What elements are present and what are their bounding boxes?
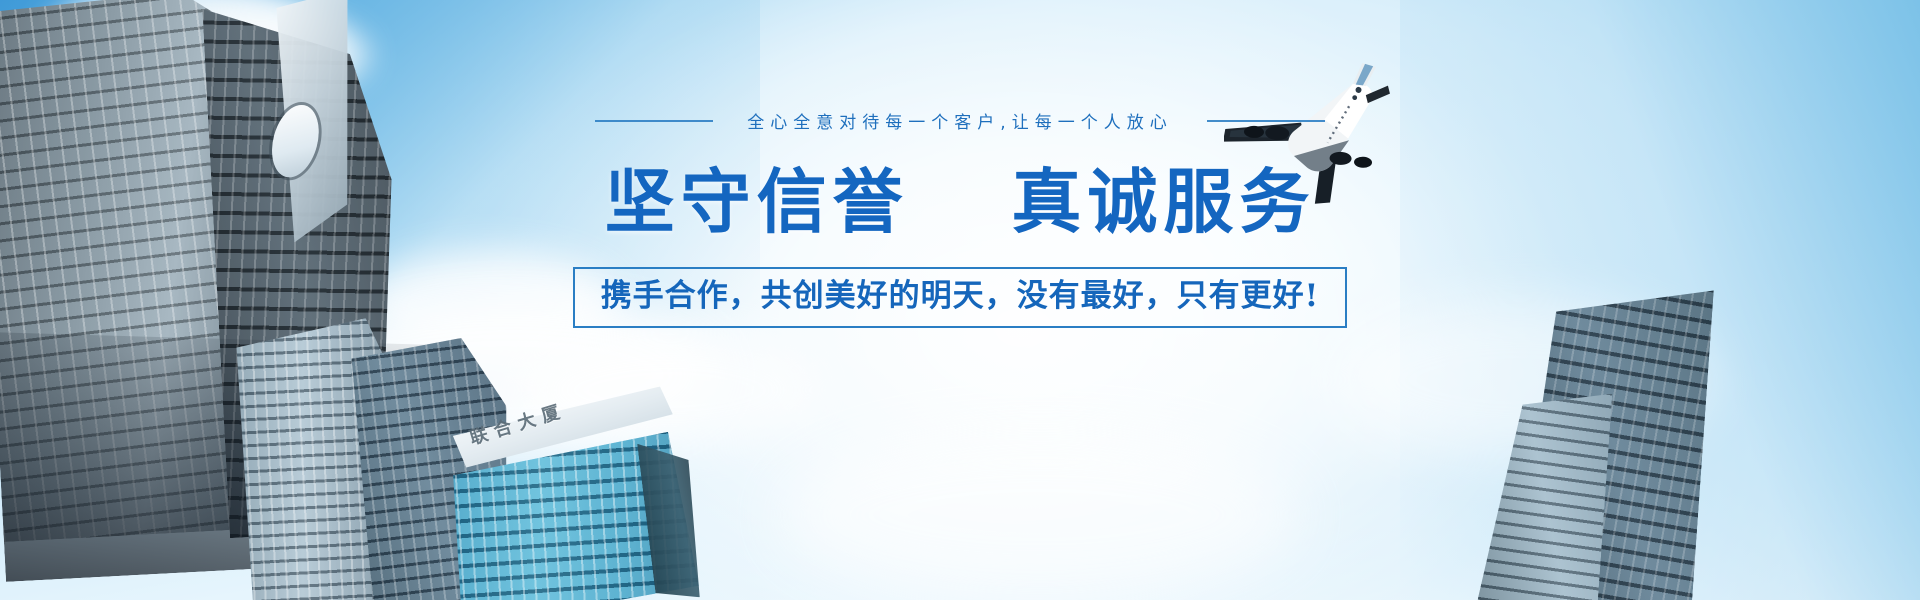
headline-part-left: 坚守信誉 — [605, 161, 909, 243]
banner-subtitle: 携手合作，共创美好的明天，没有最好，只有更好! — [601, 281, 1320, 312]
tagline-row: 全心全意对待每一个客户,让每一个人放心 — [595, 108, 1324, 133]
hero-banner: 联合大厦 — [0, 0, 1920, 600]
subtitle-box: 携手合作，共创美好的明天，没有最好，只有更好! — [573, 267, 1348, 328]
decorative-rule-right-icon — [1207, 120, 1325, 122]
banner-text-block: 全心全意对待每一个客户,让每一个人放心 坚守信誉 真诚服务 携手合作，共创美好的… — [0, 0, 1920, 600]
decorative-rule-left-icon — [595, 120, 713, 122]
headline-part-right: 真诚服务 — [1011, 161, 1315, 243]
banner-tagline: 全心全意对待每一个客户,让每一个人放心 — [747, 108, 1172, 133]
banner-headline: 坚守信誉 真诚服务 — [605, 167, 1316, 237]
